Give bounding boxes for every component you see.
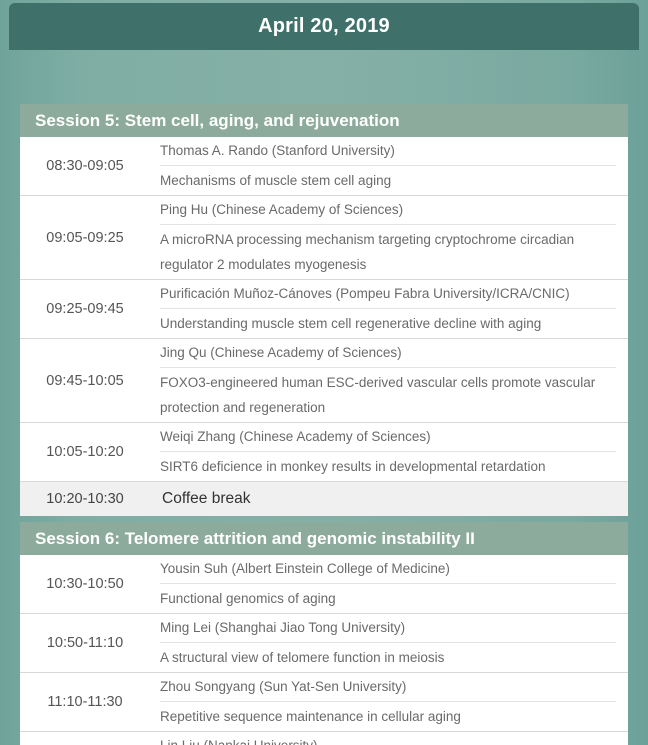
slot-talk: SIRT6 deficience in monkey results in de… (160, 452, 616, 481)
slot-body: Yousin Suh (Albert Einstein College of M… (150, 555, 628, 614)
session-table-6: 10:30-10:50 Yousin Suh (Albert Einstein … (20, 555, 628, 745)
slot-time: 10:05-10:20 (20, 423, 150, 482)
slot-body: Jing Qu (Chinese Academy of Sciences) FO… (150, 339, 628, 423)
slot-body: Purificación Muñoz-Cánoves (Pompeu Fabra… (150, 280, 628, 339)
slot-talk: Repetitive sequence maintenance in cellu… (160, 702, 616, 731)
slot-body: Thomas A. Rando (Stanford University) Me… (150, 137, 628, 196)
slot-time: 09:25-09:45 (20, 280, 150, 339)
slot-speaker: Zhou Songyang (Sun Yat-Sen University) (160, 673, 616, 702)
slot-time: 10:30-10:50 (20, 555, 150, 614)
slot-speaker: Yousin Suh (Albert Einstein College of M… (160, 555, 616, 584)
slot-speaker: Ping Hu (Chinese Academy of Sciences) (160, 196, 616, 225)
break-time: 10:20-10:30 (20, 482, 150, 517)
slot-time: 10:50-11:10 (20, 614, 150, 673)
session-header-6: Session 6: Telomere attrition and genomi… (20, 522, 628, 555)
slot-speaker: Purificación Muñoz-Cánoves (Pompeu Fabra… (160, 280, 616, 309)
table-row[interactable]: 10:50-11:10 Ming Lei (Shanghai Jiao Tong… (20, 614, 628, 673)
slot-speaker: Lin Liu (Nankai University) (160, 732, 616, 745)
session-header-5: Session 5: Stem cell, aging, and rejuven… (20, 104, 628, 137)
slot-talk: Understanding muscle stem cell regenerat… (160, 309, 616, 338)
schedule-board: Session 5: Stem cell, aging, and rejuven… (9, 50, 639, 745)
slot-speaker: Weiqi Zhang (Chinese Academy of Sciences… (160, 423, 616, 452)
slot-time: 08:30-09:05 (20, 137, 150, 196)
slot-body: Ming Lei (Shanghai Jiao Tong University)… (150, 614, 628, 673)
break-body: Coffee break (150, 482, 628, 517)
slot-time: 09:05-09:25 (20, 196, 150, 280)
table-row[interactable]: 09:05-09:25 Ping Hu (Chinese Academy of … (20, 196, 628, 280)
break-label: Coffee break (160, 482, 616, 516)
table-row[interactable]: 11:30-11:50 Lin Liu (Nankai University) … (20, 732, 628, 745)
page-title: April 20, 2019 (258, 15, 390, 38)
slot-body: Lin Liu (Nankai University) Tet deficien… (150, 732, 628, 745)
table-row[interactable]: 10:05-10:20 Weiqi Zhang (Chinese Academy… (20, 423, 628, 482)
slot-speaker: Thomas A. Rando (Stanford University) (160, 137, 616, 166)
session-table-5: 08:30-09:05 Thomas A. Rando (Stanford Un… (20, 137, 628, 516)
table-row[interactable]: 11:10-11:30 Zhou Songyang (Sun Yat-Sen U… (20, 673, 628, 732)
slot-body: Weiqi Zhang (Chinese Academy of Sciences… (150, 423, 628, 482)
date-title-bar: April 20, 2019 (9, 3, 639, 50)
slot-body: Zhou Songyang (Sun Yat-Sen University) R… (150, 673, 628, 732)
schedule-page: April 20, 2019 Session 5: Stem cell, agi… (0, 0, 648, 745)
table-row[interactable]: 10:30-10:50 Yousin Suh (Albert Einstein … (20, 555, 628, 614)
table-row[interactable]: 09:45-10:05 Jing Qu (Chinese Academy of … (20, 339, 628, 423)
table-row[interactable]: 09:25-09:45 Purificación Muñoz-Cánoves (… (20, 280, 628, 339)
slot-talk: A microRNA processing mechanism targetin… (160, 225, 616, 279)
slot-talk: FOXO3-engineered human ESC-derived vascu… (160, 368, 616, 422)
slot-talk: A structural view of telomere function i… (160, 643, 616, 672)
slot-talk: Mechanisms of muscle stem cell aging (160, 166, 616, 195)
slot-time: 09:45-10:05 (20, 339, 150, 423)
break-row[interactable]: 10:20-10:30 Coffee break (20, 482, 628, 517)
slot-speaker: Ming Lei (Shanghai Jiao Tong University) (160, 614, 616, 643)
slot-speaker: Jing Qu (Chinese Academy of Sciences) (160, 339, 616, 368)
slot-time: 11:10-11:30 (20, 673, 150, 732)
table-row[interactable]: 08:30-09:05 Thomas A. Rando (Stanford Un… (20, 137, 628, 196)
slot-body: Ping Hu (Chinese Academy of Sciences) A … (150, 196, 628, 280)
slot-time: 11:30-11:50 (20, 732, 150, 745)
slot-talk: Functional genomics of aging (160, 584, 616, 613)
